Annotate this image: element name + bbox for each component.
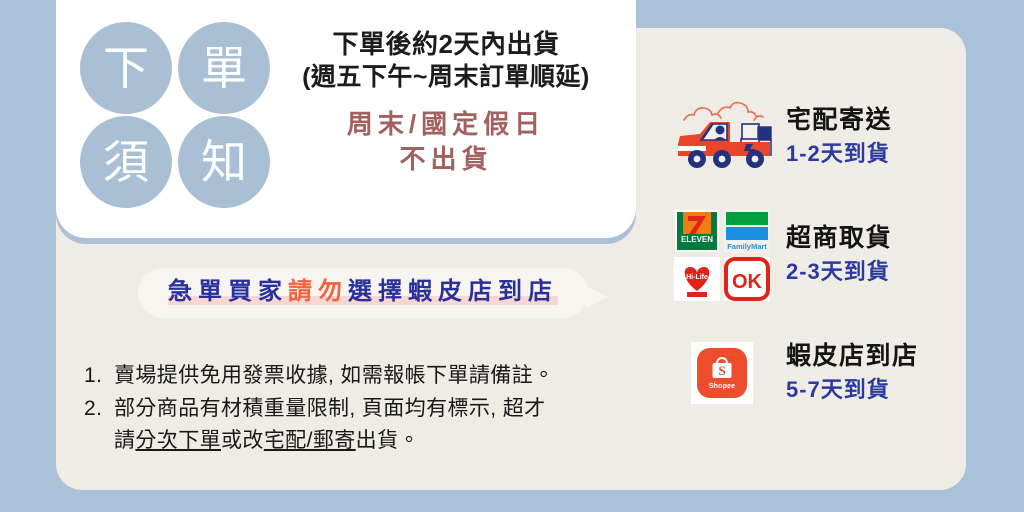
home-delivery-title: 宅配寄送 (786, 105, 892, 136)
shipping-subnote: (週五下午~周末訂單順延) (270, 61, 622, 93)
seven-eleven-logo-icon: ELEVEN (674, 209, 720, 253)
convenience-store-text: 超商取貨 2-3天到貨 (776, 223, 892, 287)
note-2-link-home-delivery[interactable]: 宅配/郵寄 (264, 429, 356, 452)
svg-text:Hi-Life: Hi-Life (686, 274, 708, 281)
callout-suffix: 選擇蝦皮店到店 (348, 278, 558, 305)
note-2-cont: 請分次下單或改宅配/郵寄出貨。 (114, 425, 420, 458)
shopee-logo-tile: S Shopee (691, 342, 753, 404)
note-item-2-continued: 請分次下單或改宅配/郵寄出貨。 (84, 425, 644, 458)
shopee-text: 蝦皮店到店 5-7天到貨 (776, 341, 919, 405)
svg-text:OK: OK (732, 271, 763, 293)
store-logo-grid: ELEVEN FamilyMart (674, 209, 770, 301)
note-item-1: 1. 賣場提供免用發票收據, 如需報帳下單請備註。 (84, 360, 644, 393)
convenience-store-eta: 2-3天到貨 (786, 258, 892, 287)
badge-char-1: 下 (80, 22, 172, 114)
note-2-cont-mid: 或改 (221, 429, 264, 452)
shopee-title: 蝦皮店到店 (786, 341, 919, 372)
badge-grid: 下 單 須 知 (80, 22, 270, 208)
holiday-warning-line1: 周末/國定假日 (270, 107, 622, 141)
shipping-option-convenience-store: ELEVEN FamilyMart (668, 196, 968, 314)
convenience-store-logos-icon: ELEVEN FamilyMart (668, 209, 776, 301)
notice-text-block: 下單後約2天內出貨 (週五下午~周末訂單順延) 周末/國定假日 不出貨 (270, 28, 622, 176)
note-2-cont-prefix: 請 (114, 429, 135, 452)
poster-root: 下 單 須 知 下單後約2天內出貨 (週五下午~周末訂單順延) 周末/國定假日 … (0, 0, 1024, 512)
badge-char-4: 知 (178, 116, 270, 208)
note-1-text: 賣場提供免用發票收據, 如需報帳下單請備註。 (114, 360, 644, 393)
callout-highlight: 請勿 (288, 278, 348, 305)
callout-prefix: 急單買家 (168, 278, 288, 305)
shipping-option-home-delivery: 宅配寄送 1-2天到貨 (668, 78, 968, 196)
home-delivery-eta: 1-2天到貨 (786, 140, 892, 169)
ok-mart-logo-icon: OK (724, 257, 770, 301)
shopee-brand-label: Shopee (709, 383, 735, 390)
convenience-store-title: 超商取貨 (786, 223, 892, 254)
svg-text:FamilyMart: FamilyMart (727, 242, 767, 251)
note-2-link-split-order[interactable]: 分次下單 (135, 429, 221, 452)
shipping-option-shopee: S Shopee 蝦皮店到店 5-7天到貨 (668, 314, 968, 432)
notes-list: 1. 賣場提供免用發票收據, 如需報帳下單請備註。 2. 部分商品有材積重量限制… (84, 360, 644, 458)
note-2-number: 2. (84, 393, 114, 426)
badge-char-2: 單 (178, 22, 270, 114)
shopee-logo-icon: S Shopee (668, 342, 776, 404)
note-item-2: 2. 部分商品有材積重量限制, 頁面均有標示, 超才 (84, 393, 644, 426)
callout-bubble: 急單買家請勿選擇蝦皮店到店 (138, 268, 588, 318)
holiday-warning-line2: 不出貨 (270, 142, 622, 176)
hi-life-logo-icon: Hi-Life (674, 257, 720, 301)
notice-card: 下 單 須 知 下單後約2天內出貨 (週五下午~周末訂單順延) 周末/國定假日 … (56, 0, 636, 238)
holiday-warning: 周末/國定假日 不出貨 (270, 107, 622, 176)
shopee-eta: 5-7天到貨 (786, 376, 919, 405)
badge-char-3: 須 (80, 116, 172, 208)
svg-text:S: S (718, 363, 725, 378)
callout-text: 急單買家請勿選擇蝦皮店到店 (168, 279, 558, 305)
svg-text:ELEVEN: ELEVEN (681, 235, 713, 244)
delivery-truck-icon (668, 100, 776, 174)
family-mart-logo-icon: FamilyMart (724, 209, 770, 253)
bubble-tail-icon (586, 286, 608, 308)
shipping-options: 宅配寄送 1-2天到貨 ELEVEN (668, 78, 968, 432)
home-delivery-text: 宅配寄送 1-2天到貨 (776, 105, 892, 169)
shipping-headline: 下單後約2天內出貨 (270, 28, 622, 61)
note-1-number: 1. (84, 360, 114, 393)
note-2-cont-suffix: 出貨。 (356, 429, 420, 452)
shopee-logo-square: S Shopee (697, 348, 747, 398)
urgent-order-callout: 急單買家請勿選擇蝦皮店到店 (138, 268, 588, 318)
note-2-text: 部分商品有材積重量限制, 頁面均有標示, 超才 (114, 393, 644, 426)
